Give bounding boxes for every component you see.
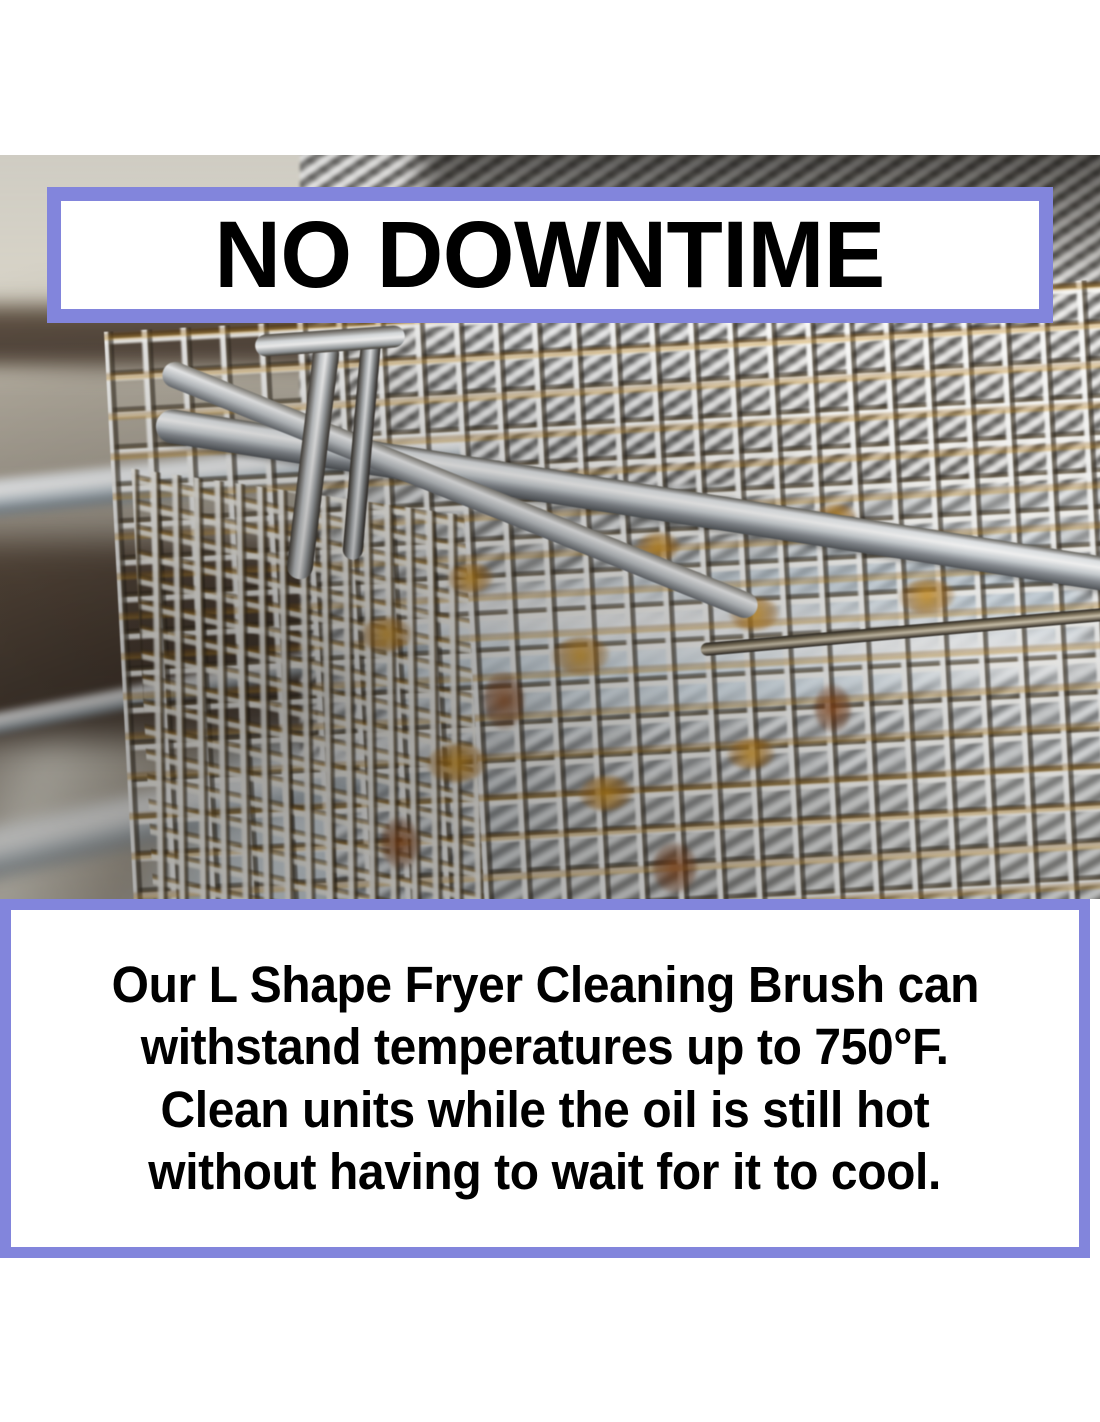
body-copy-line: Our L Shape Fryer Cleaning Brush can [111, 954, 978, 1016]
fryer-basket [104, 279, 1100, 899]
body-copy-line: withstand temperatures up to 750°F. [141, 1016, 949, 1078]
body-copy-panel-inner: Our L Shape Fryer Cleaning Brush can wit… [11, 910, 1079, 1247]
headline-banner: NO DOWNTIME [47, 187, 1053, 323]
body-copy-line: without having to wait for it to cool. [149, 1141, 942, 1203]
body-copy-panel: Our L Shape Fryer Cleaning Brush can wit… [0, 899, 1090, 1258]
promo-card: NO DOWNTIME Our L Shape Fryer Cleaning B… [0, 0, 1100, 1422]
headline-text: NO DOWNTIME [215, 208, 885, 303]
body-copy-line: Clean units while the oil is still hot [161, 1079, 930, 1141]
headline-banner-inner: NO DOWNTIME [61, 201, 1039, 309]
